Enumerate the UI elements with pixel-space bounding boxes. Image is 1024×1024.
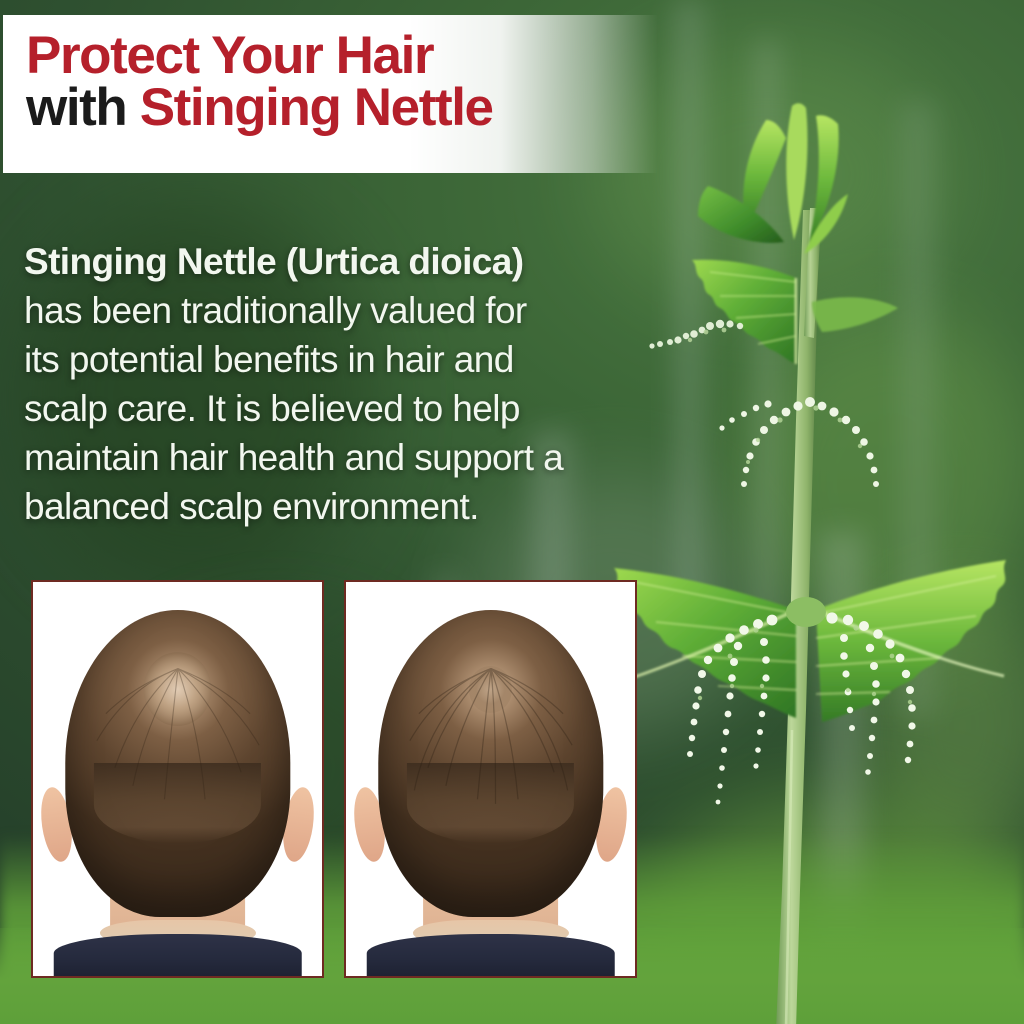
nettle-leaf-serrated bbox=[614, 560, 1006, 722]
after-photo-panel[interactable] bbox=[344, 580, 637, 978]
nettle-leaf-serrated bbox=[692, 260, 796, 364]
hair-strands bbox=[65, 610, 290, 835]
nettle-stem-node bbox=[786, 597, 826, 627]
head-back-view bbox=[378, 610, 603, 917]
infographic-poster: Protect Your Hair with Stinging Nettle S… bbox=[0, 0, 1024, 1024]
body-rest-text: has been traditionally valued for its po… bbox=[24, 290, 563, 527]
nettle-flower-catkin bbox=[649, 320, 743, 349]
title-line-2-highlight: Stinging Nettle bbox=[140, 78, 493, 137]
body-lead-text: Stinging Nettle (Urtica dioica) bbox=[24, 241, 523, 282]
before-photo-scene bbox=[33, 582, 322, 976]
nettle-leaf-serrated bbox=[812, 297, 898, 332]
title-line-2: with Stinging Nettle bbox=[26, 82, 646, 134]
after-photo-scene bbox=[346, 582, 635, 976]
page-title: Protect Your Hair with Stinging Nettle bbox=[26, 30, 646, 135]
before-after-comparison bbox=[31, 580, 637, 978]
before-photo-panel[interactable] bbox=[31, 580, 324, 978]
nettle-top-shoot bbox=[698, 103, 848, 254]
shirt bbox=[53, 934, 302, 976]
title-line-2-prefix: with bbox=[26, 78, 140, 137]
shirt bbox=[366, 934, 615, 976]
hair-strands bbox=[378, 610, 603, 835]
title-line-1: Protect Your Hair bbox=[26, 30, 646, 82]
body-paragraph: Stinging Nettle (Urtica dioica) has been… bbox=[24, 237, 564, 531]
head-back-view bbox=[65, 610, 290, 917]
